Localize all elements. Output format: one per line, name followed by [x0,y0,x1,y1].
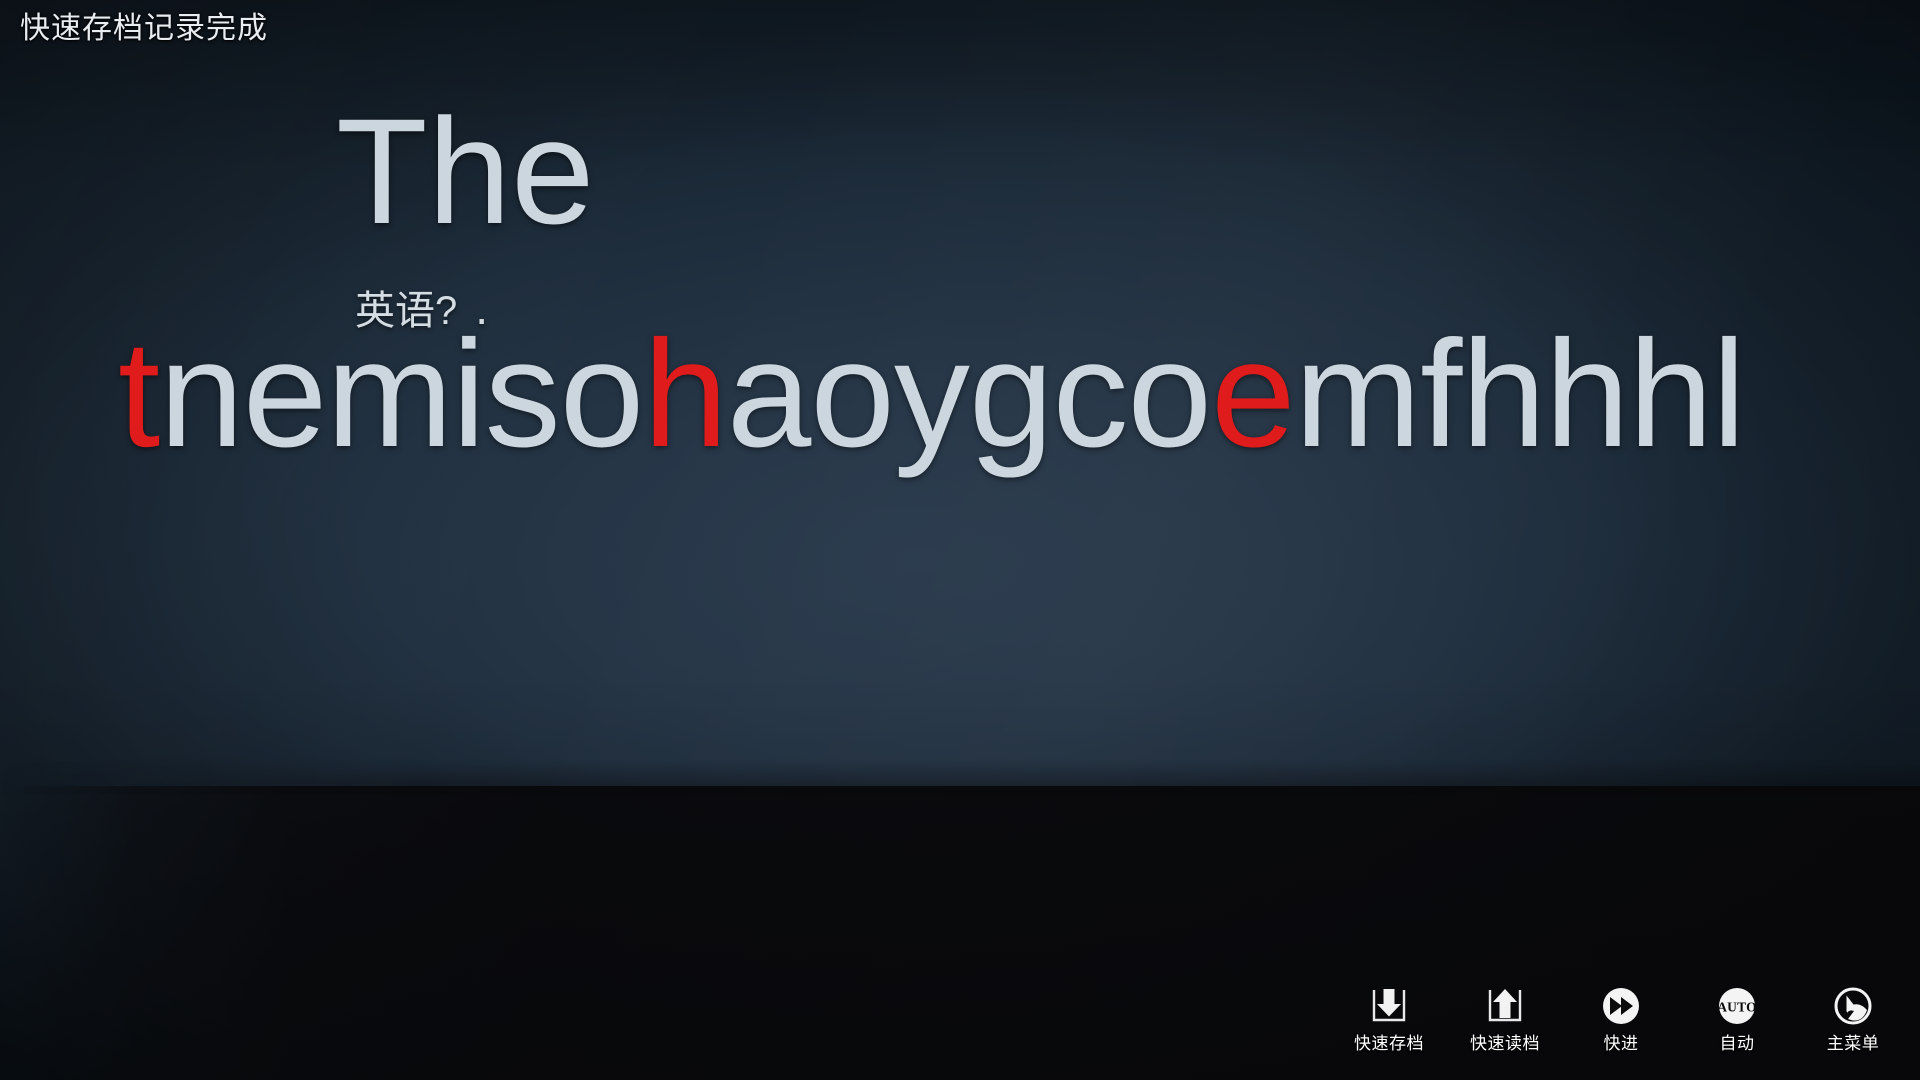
puzzle-letter-1: n [159,309,243,479]
auto-button[interactable]: AUTO 自动 [1696,984,1778,1054]
puzzle-letter-17: h [1461,309,1545,479]
quick-save-icon [1367,984,1411,1028]
quick-load-icon [1483,984,1527,1028]
quick-save-label: 快速存档 [1354,1034,1424,1054]
auto-icon: AUTO [1715,984,1759,1028]
puzzle-letter-18: h [1545,309,1629,479]
puzzle-letter-2: e [243,309,327,479]
puzzle-letter-7: h [643,309,727,479]
puzzle-letter-6: o [560,309,644,479]
quick-load-button[interactable]: 快速读档 [1464,984,1546,1054]
puzzle-letter-3: m [326,309,452,479]
puzzle-letter-15: m [1295,309,1421,479]
puzzle-letter-9: o [810,309,894,479]
main-menu-button[interactable]: 主菜单 [1812,984,1894,1054]
puzzle-letter-5: s [485,309,560,479]
puzzle-letter-13: o [1127,309,1211,479]
puzzle-top-word: The [336,96,594,246]
auto-label: 自动 [1720,1034,1755,1054]
main-menu-back-icon [1831,984,1875,1028]
puzzle-letter-10: y [894,309,969,479]
puzzle-letter-11: g [969,309,1053,479]
fast-forward-button[interactable]: 快进 [1580,984,1662,1054]
fast-forward-label: 快进 [1604,1034,1639,1054]
puzzle-letter-12: c [1052,309,1127,479]
puzzle-letter-8: a [727,309,811,479]
puzzle-letter-0: t [118,309,159,479]
quick-load-label: 快速读档 [1470,1034,1540,1054]
control-bar: 快速存档 快速读档 快进 [1348,984,1894,1054]
game-screen: 快速存档记录完成 The 英语?. tnemisohaoygcoemfhhhl … [0,0,1920,1080]
puzzle-letter-14: e [1211,309,1295,479]
quick-save-button[interactable]: 快速存档 [1348,984,1430,1054]
puzzle-letter-19: h [1629,309,1713,479]
puzzle-letter-4: i [452,309,485,479]
puzzle-letter-16: f [1420,309,1461,479]
fast-forward-icon [1599,984,1643,1028]
svg-text:AUTO: AUTO [1717,1000,1757,1015]
word-puzzle-display: The 英语?. tnemisohaoygcoemfhhhl [0,0,1920,620]
puzzle-scrambled-word: tnemisohaoygcoemfhhhl [118,318,1745,470]
main-menu-label: 主菜单 [1827,1034,1880,1054]
puzzle-letter-20: l [1712,309,1745,479]
